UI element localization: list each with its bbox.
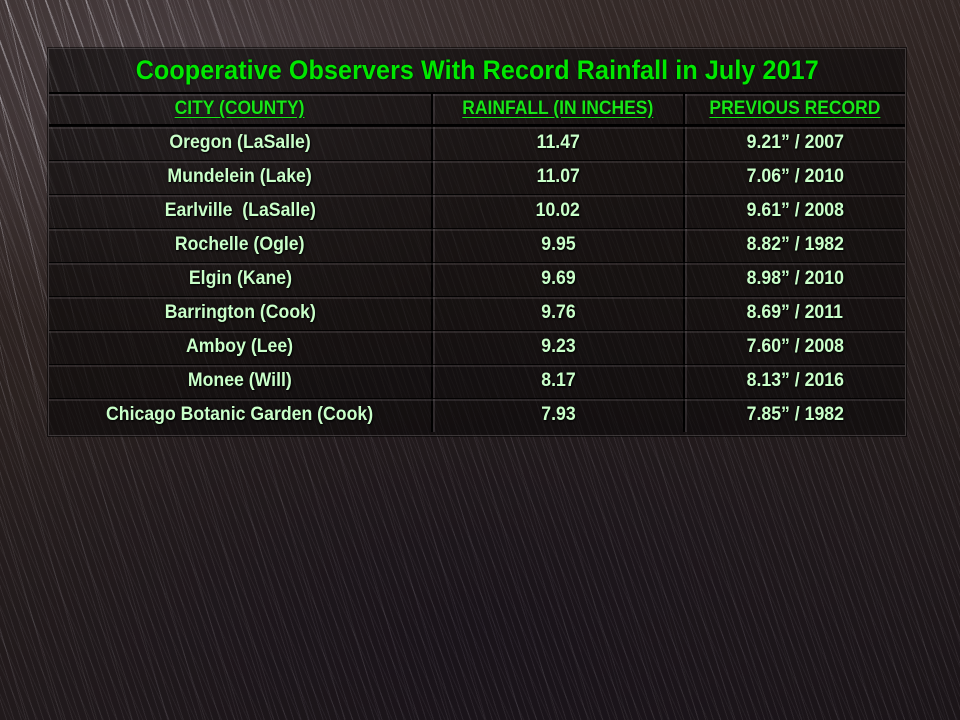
- table-row: Chicago Botanic Garden (Cook)7.937.85” /…: [49, 398, 905, 432]
- table-row: Amboy (Lee)9.237.60” / 2008: [49, 330, 905, 364]
- cell-city: Barrington (Cook): [49, 296, 431, 330]
- column-header-previous-record-label: PREVIOUS RECORD: [710, 98, 881, 120]
- cell-rainfall-label: 9.69: [541, 268, 575, 290]
- column-header-city-label: CITY (COUNTY): [175, 98, 305, 120]
- cell-rainfall-label: 10.02: [536, 200, 580, 222]
- cell-rainfall-label: 7.93: [541, 404, 575, 426]
- cell-city: Chicago Botanic Garden (Cook): [49, 398, 431, 432]
- column-header-rainfall-label: RAINFALL (IN INCHES): [463, 98, 654, 120]
- cell-previous-record: 9.61” / 2008: [683, 194, 905, 228]
- cell-previous-record: 8.69” / 2011: [683, 296, 905, 330]
- cell-previous-record-label: 8.82” / 1982: [746, 234, 843, 256]
- cell-city-label: Oregon (LaSalle): [169, 132, 310, 154]
- cell-previous-record-label: 7.06” / 2010: [746, 166, 843, 188]
- cell-rainfall-label: 9.95: [541, 234, 575, 256]
- record-rainfall-table: Cooperative Observers With Record Rainfa…: [48, 48, 906, 436]
- cell-city-label: Mundelein (Lake): [168, 166, 312, 188]
- cell-city: Oregon (LaSalle): [49, 126, 431, 160]
- table-header-row: CITY (COUNTY) RAINFALL (IN INCHES) PREVI…: [49, 94, 905, 126]
- cell-previous-record-label: 7.85” / 1982: [746, 404, 843, 426]
- table-row: Barrington (Cook)9.768.69” / 2011: [49, 296, 905, 330]
- column-header-city: CITY (COUNTY): [49, 94, 431, 124]
- cell-city: Earlville (LaSalle): [49, 194, 431, 228]
- cell-city-label: Elgin (Kane): [188, 268, 291, 290]
- cell-city: Amboy (Lee): [49, 330, 431, 364]
- page-title: Cooperative Observers With Record Rainfa…: [135, 55, 818, 86]
- cell-previous-record: 7.85” / 1982: [683, 398, 905, 432]
- cell-city-label: Earlville (LaSalle): [164, 200, 315, 222]
- cell-previous-record-label: 9.21” / 2007: [746, 132, 843, 154]
- cell-previous-record: 8.82” / 1982: [683, 228, 905, 262]
- cell-previous-record: 8.13” / 2016: [683, 364, 905, 398]
- cell-city: Rochelle (Ogle): [49, 228, 431, 262]
- cell-previous-record: 7.06” / 2010: [683, 160, 905, 194]
- cell-city-label: Monee (Will): [188, 370, 292, 392]
- cell-rainfall: 8.17: [431, 364, 683, 398]
- cell-previous-record-label: 9.61” / 2008: [746, 200, 843, 222]
- cell-rainfall: 9.69: [431, 262, 683, 296]
- table-row: Earlville (LaSalle)10.029.61” / 2008: [49, 194, 905, 228]
- cell-city-label: Barrington (Cook): [164, 302, 315, 324]
- table-title-row: Cooperative Observers With Record Rainfa…: [49, 49, 905, 94]
- table-row: Monee (Will)8.178.13” / 2016: [49, 364, 905, 398]
- cell-city-label: Rochelle (Ogle): [175, 234, 305, 256]
- cell-city: Mundelein (Lake): [49, 160, 431, 194]
- cell-previous-record-label: 8.98” / 2010: [746, 268, 843, 290]
- cell-city-label: Chicago Botanic Garden (Cook): [106, 404, 373, 426]
- cell-rainfall-label: 11.47: [536, 132, 579, 154]
- cell-previous-record: 8.98” / 2010: [683, 262, 905, 296]
- cell-rainfall: 9.76: [431, 296, 683, 330]
- cell-city-label: Amboy (Lee): [186, 336, 293, 358]
- cell-rainfall: 9.95: [431, 228, 683, 262]
- table-row: Oregon (LaSalle)11.479.21” / 2007: [49, 126, 905, 160]
- table-row: Rochelle (Ogle)9.958.82” / 1982: [49, 228, 905, 262]
- cell-rainfall-label: 11.07: [536, 166, 579, 188]
- cell-rainfall-label: 9.76: [541, 302, 575, 324]
- cell-previous-record-label: 8.69” / 2011: [747, 302, 843, 324]
- cell-rainfall-label: 9.23: [541, 336, 575, 358]
- cell-city: Monee (Will): [49, 364, 431, 398]
- cell-rainfall: 10.02: [431, 194, 683, 228]
- table-row: Mundelein (Lake)11.077.06” / 2010: [49, 160, 905, 194]
- cell-previous-record-label: 7.60” / 2008: [746, 336, 843, 358]
- cell-previous-record: 9.21” / 2007: [683, 126, 905, 160]
- weather-graphic: Cooperative Observers With Record Rainfa…: [0, 0, 960, 720]
- cell-previous-record: 7.60” / 2008: [683, 330, 905, 364]
- footer-bar: NWS Chicago web: weather.gov/Chicago @NW…: [0, 644, 960, 720]
- cell-previous-record-label: 8.13” / 2016: [746, 370, 843, 392]
- table-body: Oregon (LaSalle)11.479.21” / 2007Mundele…: [49, 126, 905, 432]
- table-row: Elgin (Kane)9.698.98” / 2010: [49, 262, 905, 296]
- column-header-rainfall: RAINFALL (IN INCHES): [431, 94, 683, 124]
- cell-rainfall: 11.47: [431, 126, 683, 160]
- cell-rainfall-label: 8.17: [541, 370, 575, 392]
- cell-rainfall: 9.23: [431, 330, 683, 364]
- column-header-previous-record: PREVIOUS RECORD: [683, 94, 905, 124]
- cell-rainfall: 11.07: [431, 160, 683, 194]
- cell-city: Elgin (Kane): [49, 262, 431, 296]
- cell-rainfall: 7.93: [431, 398, 683, 432]
